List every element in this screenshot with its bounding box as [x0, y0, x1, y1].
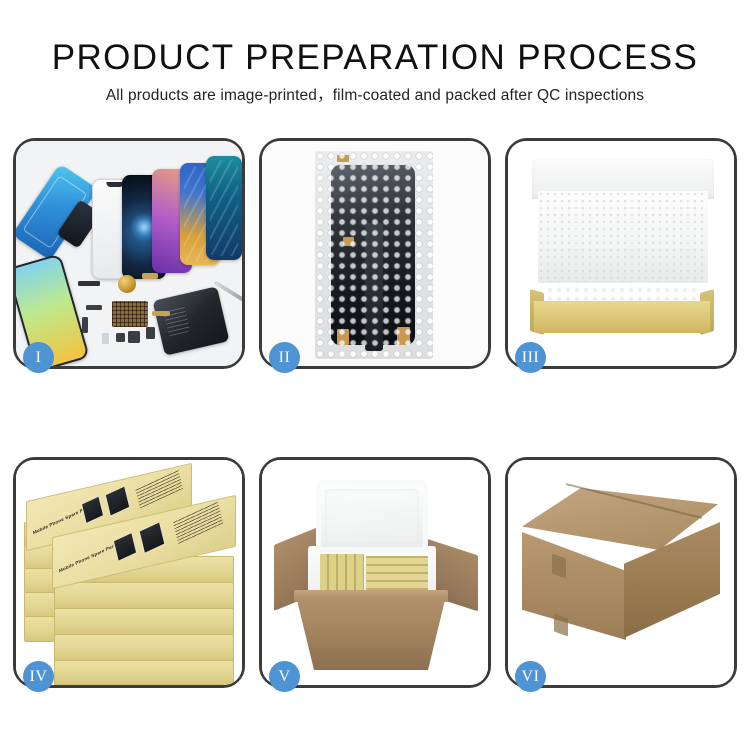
small-part-icon-3 — [146, 327, 155, 339]
box-spec-lines-lower — [173, 501, 223, 544]
chip-part-icon — [78, 281, 100, 286]
connector-part-icon-1 — [86, 305, 102, 310]
disassembled-phone-back-icon — [153, 286, 230, 355]
box-thumb-lower-2 — [138, 521, 165, 554]
carton-cooler-scene — [262, 460, 488, 685]
box-thumb-lower-1 — [113, 532, 138, 562]
step-panel-6[interactable]: VI — [505, 457, 737, 688]
tape-piece-icon-4 — [397, 327, 410, 345]
carton-tape-icon-2 — [554, 613, 568, 636]
carton-left-face-icon — [522, 532, 626, 640]
stacked-box-side-10 — [54, 660, 234, 685]
kraft-box-front-icon — [534, 301, 710, 333]
step-panel-1[interactable]: I — [13, 138, 245, 369]
page-title: PRODUCT PREPARATION PROCESS — [0, 38, 750, 78]
carton-body-icon — [296, 596, 446, 670]
step-6-image — [508, 460, 734, 685]
open-box-foam-scene — [508, 141, 734, 366]
bubble-wrap-bag-icon — [315, 151, 433, 359]
box-thumb-upper-2 — [105, 485, 131, 517]
step-panel-5[interactable]: V — [259, 457, 491, 688]
step-badge-4: IV — [23, 661, 54, 692]
process-steps-grid: I II — [13, 138, 737, 688]
tape-piece-icon-1 — [337, 155, 349, 162]
box-spec-lines-upper — [135, 468, 183, 508]
page-header: PRODUCT PREPARATION PROCESS All products… — [0, 0, 750, 107]
small-screw-icon-2 — [116, 333, 125, 342]
gold-speaker-part-icon — [118, 275, 136, 293]
step-5-image — [262, 460, 488, 685]
flex-cable-icon-1 — [142, 273, 158, 279]
step-badge-1: I — [23, 342, 54, 373]
stacked-box-side-9 — [54, 634, 234, 662]
step-panel-3[interactable]: III — [505, 138, 737, 369]
stacked-box-side-7 — [54, 582, 234, 610]
camera-module-icon — [128, 331, 140, 343]
tape-piece-icon-3 — [337, 329, 349, 345]
box-label-lower: Mobile Phone Spare Parts — [58, 542, 118, 574]
stacked-box-side-8 — [54, 608, 234, 636]
styrofoam-lid-icon — [316, 480, 428, 552]
box-thumb-upper-1 — [81, 495, 104, 524]
step-1-image — [16, 141, 242, 366]
step-3-image — [508, 141, 734, 366]
tape-piece-icon-2 — [343, 237, 354, 246]
small-screw-icon-1 — [102, 333, 109, 344]
step-badge-6: VI — [515, 661, 546, 692]
step-panel-4[interactable]: Mobile Phone Spare Parts Mobile Phone Sp… — [13, 457, 245, 688]
packed-screen-icon — [331, 165, 415, 345]
phone-parts-scene — [16, 141, 242, 366]
foam-lining-icon — [538, 191, 708, 283]
screw-tray-icon — [112, 301, 148, 327]
step-badge-2: II — [269, 342, 300, 373]
screen-flex-strip-icon — [365, 223, 383, 351]
connector-part-icon-2 — [82, 317, 88, 333]
sealed-carton-scene — [508, 460, 734, 685]
step-2-image — [262, 141, 488, 366]
step-badge-3: III — [515, 342, 546, 373]
teal-display-icon — [206, 156, 242, 260]
step-4-image: Mobile Phone Spare Parts Mobile Phone Sp… — [16, 460, 242, 685]
stacked-boxes-scene: Mobile Phone Spare Parts Mobile Phone Sp… — [16, 460, 242, 685]
flex-cable-icon-2 — [152, 311, 170, 316]
page-subtitle: All products are image-printed，film-coat… — [0, 85, 750, 107]
step-panel-2[interactable]: II — [259, 138, 491, 369]
bubble-wrap-scene — [262, 141, 488, 366]
step-badge-5: V — [269, 661, 300, 692]
